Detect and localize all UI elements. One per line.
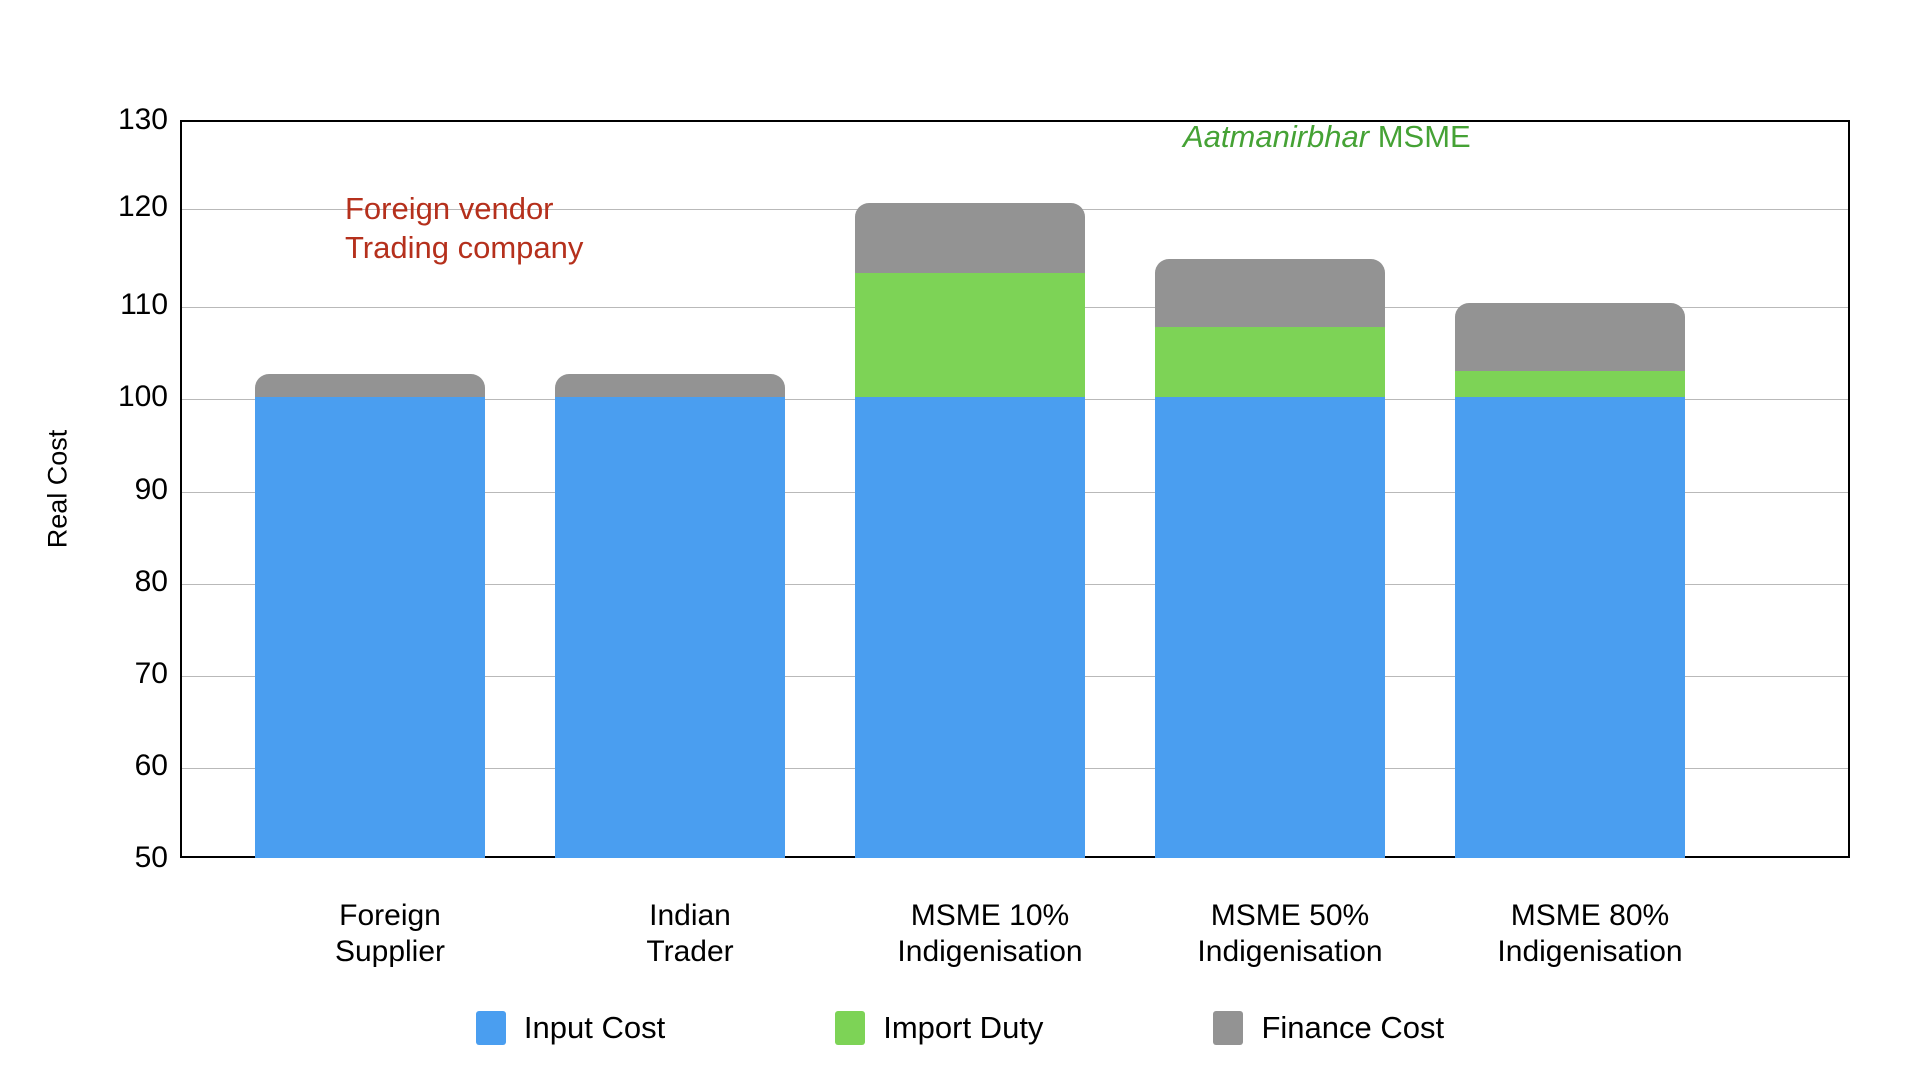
legend-item-input-cost[interactable]: Input Cost bbox=[476, 1010, 665, 1046]
bar-segment-import-duty bbox=[1455, 371, 1685, 397]
stacked-bar-chart: 130 120 110 100 90 80 70 60 50 Real Cost… bbox=[0, 0, 1920, 1080]
annotation-aatmanirbhar-msme: Aatmanirbhar MSME bbox=[1183, 118, 1471, 157]
legend-swatch-icon bbox=[1213, 1011, 1243, 1045]
bar-segment-import-duty bbox=[1155, 327, 1385, 397]
y-axis-label: Real Cost bbox=[43, 430, 74, 549]
legend-label: Input Cost bbox=[524, 1010, 665, 1046]
bar-group-msme-80[interactable] bbox=[1455, 303, 1685, 858]
bar-segment-input-cost bbox=[855, 397, 1085, 858]
legend-swatch-icon bbox=[835, 1011, 865, 1045]
y-tick-120: 120 bbox=[48, 192, 168, 222]
y-tick-50: 50 bbox=[48, 843, 168, 873]
bar-segment-finance-cost bbox=[855, 203, 1085, 273]
bar-group-msme-50[interactable] bbox=[1155, 259, 1385, 858]
bar-segment-finance-cost bbox=[1455, 303, 1685, 371]
legend-label: Finance Cost bbox=[1261, 1010, 1444, 1046]
annotation-italic-text: Aatmanirbhar bbox=[1183, 119, 1369, 154]
legend-item-import-duty[interactable]: Import Duty bbox=[835, 1010, 1043, 1046]
annotation-foreign-vendor: Foreign vendor Trading company bbox=[345, 190, 583, 268]
y-tick-130: 130 bbox=[48, 105, 168, 135]
y-tick-80: 80 bbox=[48, 567, 168, 597]
bar-segment-input-cost bbox=[555, 397, 785, 858]
bar-segment-finance-cost bbox=[1155, 259, 1385, 327]
chart-legend: Input Cost Import Duty Finance Cost bbox=[0, 1010, 1920, 1046]
y-tick-70: 70 bbox=[48, 659, 168, 689]
bar-segment-finance-cost bbox=[555, 374, 785, 397]
legend-item-finance-cost[interactable]: Finance Cost bbox=[1213, 1010, 1444, 1046]
bar-segment-import-duty bbox=[855, 273, 1085, 397]
legend-swatch-icon bbox=[476, 1011, 506, 1045]
x-tick-msme-80: MSME 80% Indigenisation bbox=[1380, 898, 1800, 970]
legend-label: Import Duty bbox=[883, 1010, 1043, 1046]
bar-segment-input-cost bbox=[1455, 397, 1685, 858]
bar-group-foreign-supplier[interactable] bbox=[255, 374, 485, 858]
bar-group-indian-trader[interactable] bbox=[555, 374, 785, 858]
bar-segment-input-cost bbox=[255, 397, 485, 858]
bar-segment-input-cost bbox=[1155, 397, 1385, 858]
y-tick-110: 110 bbox=[48, 290, 168, 320]
bar-group-msme-10[interactable] bbox=[855, 203, 1085, 858]
y-tick-60: 60 bbox=[48, 751, 168, 781]
bar-segment-finance-cost bbox=[255, 374, 485, 397]
annotation-regular-text: MSME bbox=[1369, 119, 1471, 154]
y-tick-100: 100 bbox=[48, 382, 168, 412]
